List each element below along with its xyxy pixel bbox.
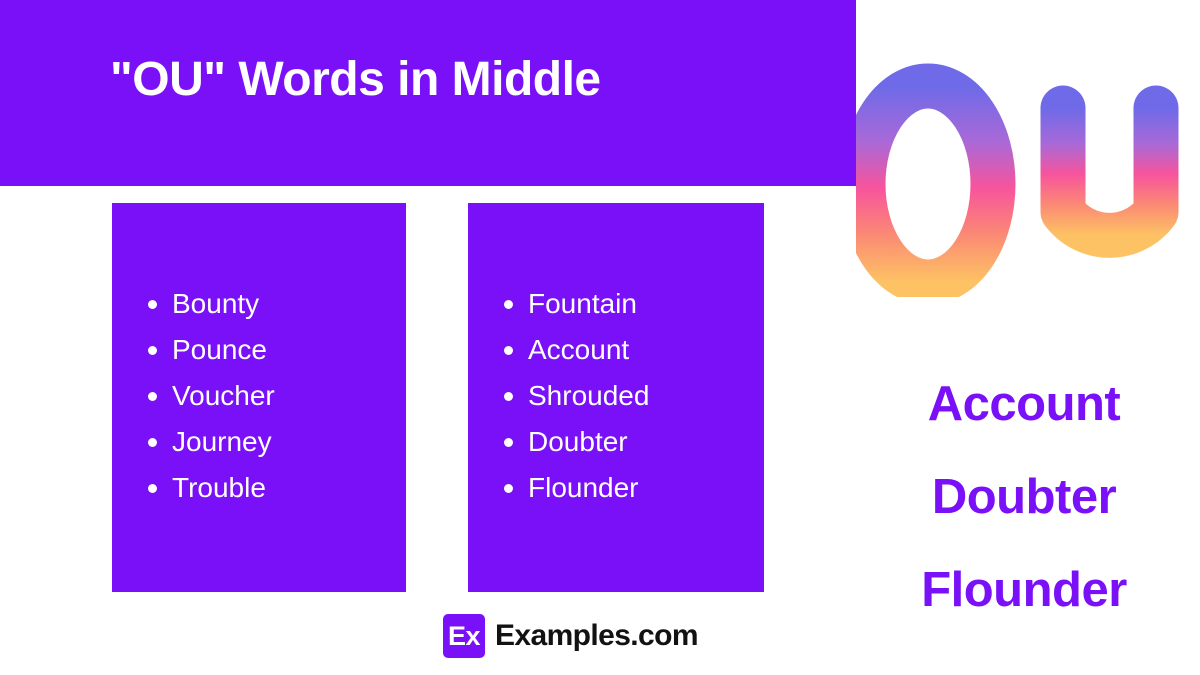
brand-wordmark: Examples.com — [495, 619, 698, 653]
list-item: Account — [504, 327, 754, 373]
bullet-icon — [148, 484, 157, 493]
bullet-icon — [148, 300, 157, 309]
bullet-icon — [504, 346, 513, 355]
left-word-panel: Bounty Pounce Voucher Journey Trouble — [112, 203, 406, 592]
word-label: Flounder — [528, 472, 639, 503]
right-word-list: Fountain Account Shrouded Doubter Flound… — [504, 281, 754, 511]
list-item: Shrouded — [504, 373, 754, 419]
word-label: Doubter — [528, 426, 628, 457]
bullet-icon — [148, 438, 157, 447]
word-label: Voucher — [172, 380, 275, 411]
bullet-icon — [148, 346, 157, 355]
examples-logo[interactable]: Ex Examples.com — [443, 614, 698, 658]
bullet-icon — [504, 484, 513, 493]
featured-word: Doubter — [856, 451, 1192, 544]
infographic-canvas: "OU" Words in Middle Bounty Pounce Vouch… — [0, 0, 1200, 675]
word-label: Pounce — [172, 334, 267, 365]
ou-gradient-logo-icon — [856, 62, 1186, 297]
list-item: Journey — [148, 419, 396, 465]
word-label: Fountain — [528, 288, 637, 319]
list-item: Voucher — [148, 373, 396, 419]
ex-badge-icon: Ex — [443, 614, 485, 658]
word-label: Bounty — [172, 288, 259, 319]
header-band: "OU" Words in Middle — [0, 0, 856, 186]
bullet-icon — [504, 392, 513, 401]
left-word-list: Bounty Pounce Voucher Journey Trouble — [148, 281, 396, 511]
bullet-icon — [504, 438, 513, 447]
right-word-panel: Fountain Account Shrouded Doubter Flound… — [468, 203, 764, 592]
word-label: Account — [528, 334, 629, 365]
page-title: "OU" Words in Middle — [110, 52, 810, 107]
word-label: Shrouded — [528, 380, 649, 411]
featured-word: Account — [856, 358, 1192, 451]
list-item: Pounce — [148, 327, 396, 373]
list-item: Flounder — [504, 465, 754, 511]
bullet-icon — [504, 300, 513, 309]
featured-word-list: Account Doubter Flounder — [856, 358, 1192, 637]
word-label: Journey — [172, 426, 272, 457]
bullet-icon — [148, 392, 157, 401]
featured-word: Flounder — [856, 544, 1192, 637]
list-item: Bounty — [148, 281, 396, 327]
list-item: Doubter — [504, 419, 754, 465]
list-item: Fountain — [504, 281, 754, 327]
list-item: Trouble — [148, 465, 396, 511]
word-label: Trouble — [172, 472, 266, 503]
